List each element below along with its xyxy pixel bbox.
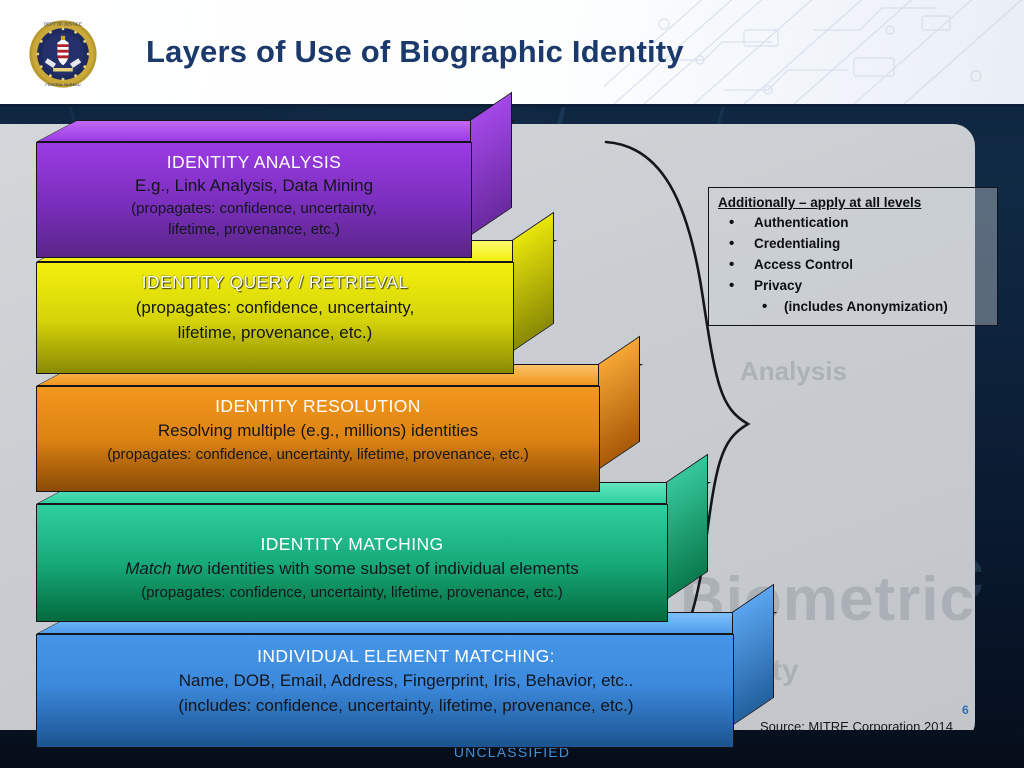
callout-list: Authentication Credentialing Access Cont… [718,212,988,317]
block-front-face [36,386,600,492]
svg-text:FEDERAL BUREAU: FEDERAL BUREAU [45,82,80,87]
block-front-face [36,142,472,258]
fbi-seal-icon: DEPT OF JUSTICE FEDERAL BUREAU [28,18,98,90]
layer-block-identity-resolution[interactable]: IDENTITY RESOLUTION Resolving multiple (… [36,364,661,492]
callout-item-credentialing: Credentialing [718,233,988,254]
layer-block-individual-element-matching[interactable]: INDIVIDUAL ELEMENT MATCHING: Name, DOB, … [36,612,776,748]
block-top-face [36,120,515,142]
callout-item-access-control: Access Control [718,254,988,275]
layer-block-identity-analysis[interactable]: IDENTITY ANALYSIS E.g., Link Analysis, D… [36,120,566,256]
svg-text:DEPT OF JUSTICE: DEPT OF JUSTICE [44,21,82,26]
callout-item-anonymization: (includes Anonymization) [718,296,988,317]
callout-heading: Additionally – apply at all levels [718,195,988,210]
block-front-face [36,634,734,748]
additional-controls-callout: Additionally – apply at all levels Authe… [708,187,998,326]
page-title: Layers of Use of Biographic Identity [146,34,684,70]
page-number: 6 [962,703,969,717]
block-front-face [36,262,514,374]
block-front-face [36,504,668,622]
slide-canvas: 1010 Biometric Identity Biometric Identi… [0,0,1024,768]
layer-block-identity-query-retrieval[interactable]: IDENTITY QUERY / RETRIEVAL (propagates: … [36,240,596,374]
slide-header: DEPT OF JUSTICE FEDERAL BUREAU Layers of… [0,0,1024,107]
callout-item-authentication: Authentication [718,212,988,233]
callout-item-privacy: Privacy [718,275,988,296]
layer-block-identity-matching[interactable]: IDENTITY MATCHING Match two identities w… [36,482,726,622]
